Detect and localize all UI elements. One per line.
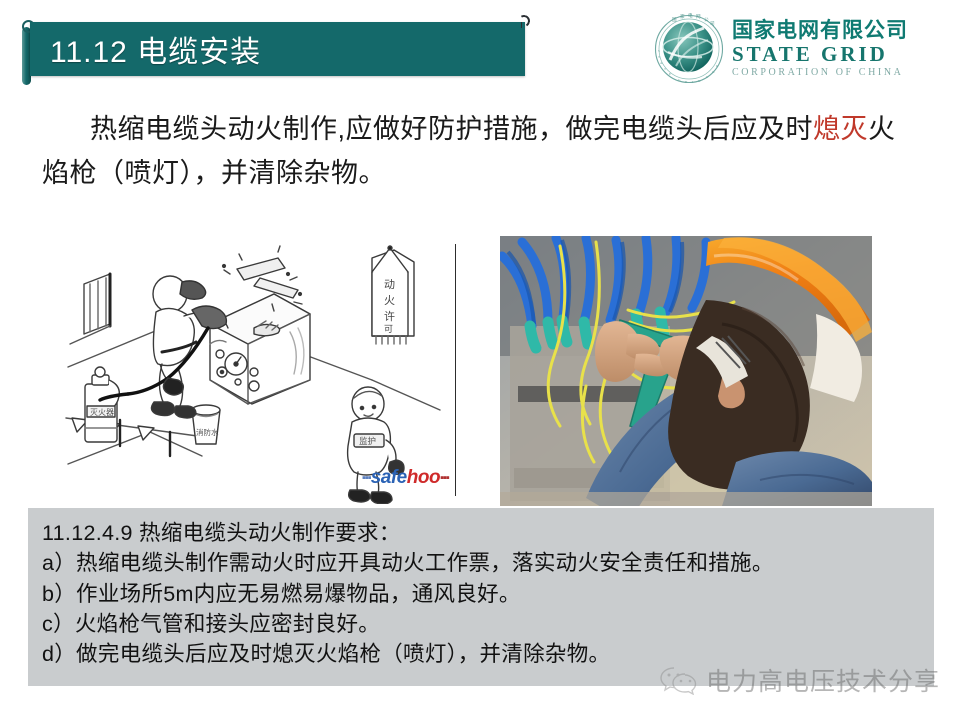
requirement-item-c: c）火焰枪气管和接头应密封良好。: [42, 609, 934, 639]
wechat-watermark: 电力高电压技术分享: [660, 662, 940, 698]
svg-text:许: 许: [384, 310, 395, 323]
svg-text:公: 公: [704, 17, 709, 22]
requirement-item-a: a）热缩电缆头制作需动火时应开具动火工作票，落实动火安全责任和措施。: [42, 548, 934, 578]
slide-body-paragraph: 热缩电缆头动火制作,应做好防护措施，做完电缆头后应及时熄灭火焰枪（喷灯），并清除…: [42, 108, 922, 195]
requirements-content: 11.12.4.9 热缩电缆头动火制作要求： a）热缩电缆头制作需动火时应开具动…: [28, 508, 934, 670]
svg-text:司: 司: [710, 21, 715, 26]
safehoo-right-dots: ▪▪▪: [440, 472, 449, 484]
svg-text:网: 网: [696, 14, 701, 20]
safehoo-left-dots: ▪▪▪: [362, 472, 371, 484]
svg-text:家: 家: [680, 13, 685, 19]
banner-hook-line-icon: [521, 22, 522, 28]
wechat-icon: [660, 665, 698, 695]
requirements-heading: 11.12.4.9 热缩电缆头动火制作要求：: [42, 518, 934, 548]
safehoo-source-watermark: ▪▪▪safehoo▪▪▪: [362, 468, 449, 487]
svg-text:电: 电: [688, 12, 693, 18]
logo-english-name: STATE GRID: [732, 44, 908, 65]
paragraph-part-1: 热缩电缆头动火制作,应做好防护措施，做完电缆头后应及时: [90, 114, 813, 144]
illustration-divider-line: [455, 244, 456, 496]
requirement-item-b: b）作业场所5m内应无易燃易爆物品，通风良好。: [42, 579, 934, 609]
requirements-info-box: 11.12.4.9 热缩电缆头动火制作要求： a）热缩电缆头制作需动火时应开具动…: [28, 508, 934, 686]
state-grid-logo-text: 国家电网有限公司 STATE GRID CORPORATION OF CHINA: [732, 20, 908, 78]
state-grid-logo: 国家电 网公司 STA TE GRID COR 国家电网有限公司 STATE G…: [652, 12, 952, 86]
svg-text:监护: 监护: [359, 436, 376, 446]
svg-text:火: 火: [384, 295, 395, 307]
watermark-text: 电力高电压技术分享: [706, 662, 940, 698]
safehoo-text-hoo: hoo: [407, 467, 440, 488]
paragraph-highlight: 熄灭: [813, 114, 868, 144]
hot-work-safety-cartoon: 灭火器 消防水: [42, 232, 457, 504]
safehoo-text-safe: safe: [371, 467, 407, 488]
svg-text:灭火器: 灭火器: [90, 408, 114, 417]
svg-text:消防水: 消防水: [196, 427, 219, 437]
svg-text:E: E: [669, 72, 671, 76]
slide-canvas: 11.12 电缆安装: [0, 0, 960, 720]
state-grid-globe-logo-icon: 国家电 网公司 STA TE GRID COR: [652, 12, 726, 86]
page-title: 11.12 电缆安装: [50, 27, 261, 71]
logo-english-subtitle: CORPORATION OF CHINA: [732, 68, 908, 78]
slide-title-banner: 11.12 电缆安装: [30, 22, 525, 76]
logo-chinese-name: 国家电网有限公司: [732, 20, 908, 41]
svg-text:S: S: [658, 49, 660, 53]
svg-text:动: 动: [384, 278, 395, 291]
cable-termination-worker-photo: [500, 236, 872, 506]
svg-text:可: 可: [384, 324, 393, 334]
